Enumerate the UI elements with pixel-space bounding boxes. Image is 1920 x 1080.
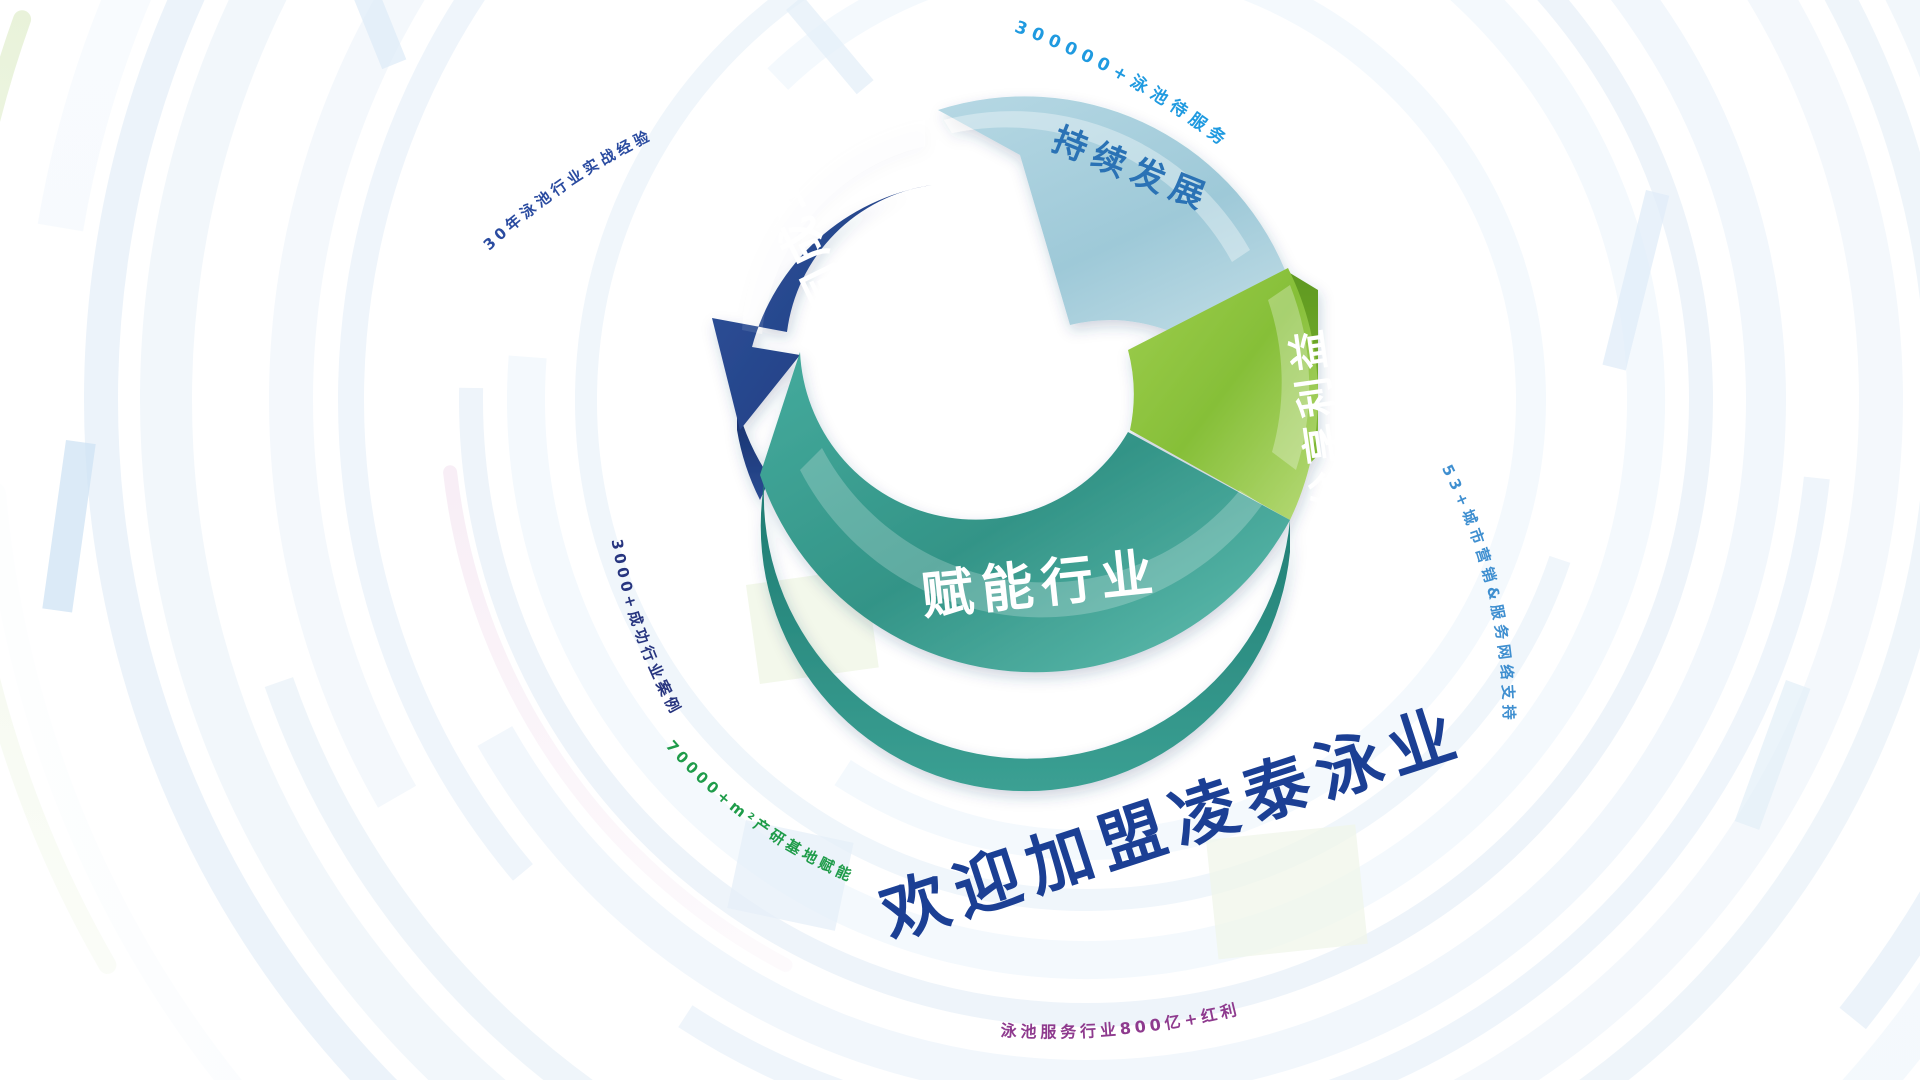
poster-canvas: 30年泳池行业实战经验 300000+泳池待服务 53+城市营销&服务网络支持 … — [0, 0, 1920, 1080]
headline-layer: 欢迎加盟凌泰泳业 — [0, 0, 1920, 1080]
headline-text: 欢迎加盟凌泰泳业 — [871, 693, 1474, 954]
